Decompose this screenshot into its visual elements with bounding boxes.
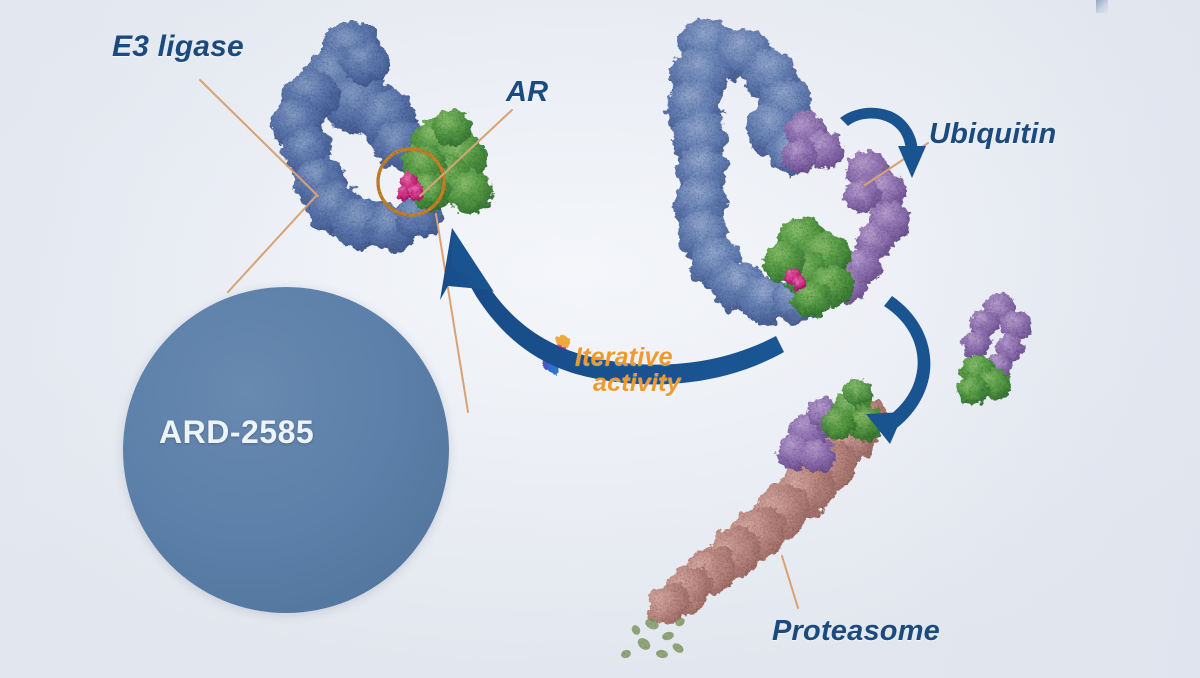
label-ar: AR <box>506 76 548 109</box>
label-ubiquitin: Ubiquitin <box>929 118 1056 151</box>
figure-canvas: ARD-2585 <box>0 0 1200 678</box>
leader-line-ar <box>420 110 512 196</box>
label-e3-ligase: E3 ligase <box>112 30 244 64</box>
leader-line-e3-ligase <box>200 80 318 196</box>
proteasome-delivery-arrow <box>866 296 930 444</box>
annotations-layer <box>0 0 1200 678</box>
label-iterative-activity: Iterative activity <box>575 344 681 397</box>
ubiquitin-transfer-arrow <box>840 108 926 178</box>
label-proteasome: Proteasome <box>772 615 940 648</box>
leader-line-ard-left <box>228 196 316 292</box>
label-iterative-line2: activity <box>575 370 681 396</box>
corner-artifact <box>1096 0 1108 13</box>
label-iterative-line1: Iterative <box>575 344 681 370</box>
leader-line-proteasome <box>782 556 798 608</box>
